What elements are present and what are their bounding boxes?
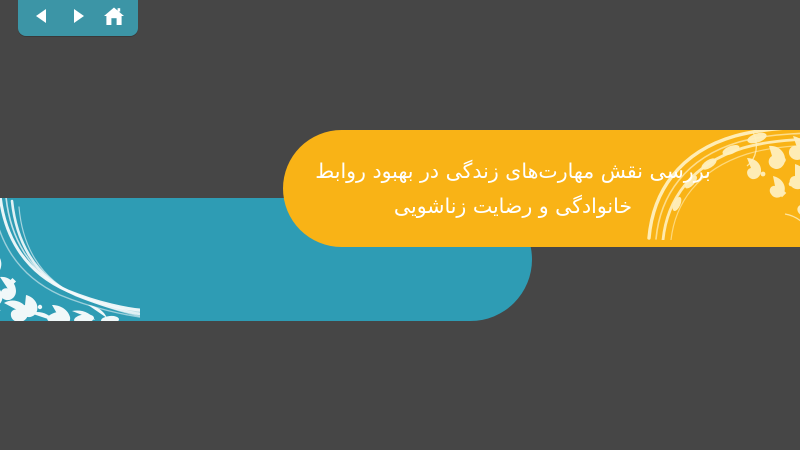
title-line-1: بررسی نقش مهارت‌های زندگی در بهبود روابط <box>301 154 725 188</box>
home-icon <box>103 6 125 27</box>
slide-stage: بررسی نقش مهارت‌های زندگی در بهبود روابط… <box>0 0 800 450</box>
title-banner: بررسی نقش مهارت‌های زندگی در بهبود روابط… <box>283 130 800 247</box>
home-button[interactable] <box>99 2 129 30</box>
triangle-right-icon <box>68 6 88 26</box>
navigation-toolbar <box>18 0 138 36</box>
triangle-left-icon <box>32 6 52 26</box>
back-button[interactable] <box>27 2 57 30</box>
forward-button[interactable] <box>63 2 93 30</box>
arabesque-corner-ornament-teal <box>0 198 140 321</box>
title-line-2: خانوادگی و رضایت زناشویی <box>301 189 725 223</box>
title-text-block: بررسی نقش مهارت‌های زندگی در بهبود روابط… <box>283 154 800 223</box>
